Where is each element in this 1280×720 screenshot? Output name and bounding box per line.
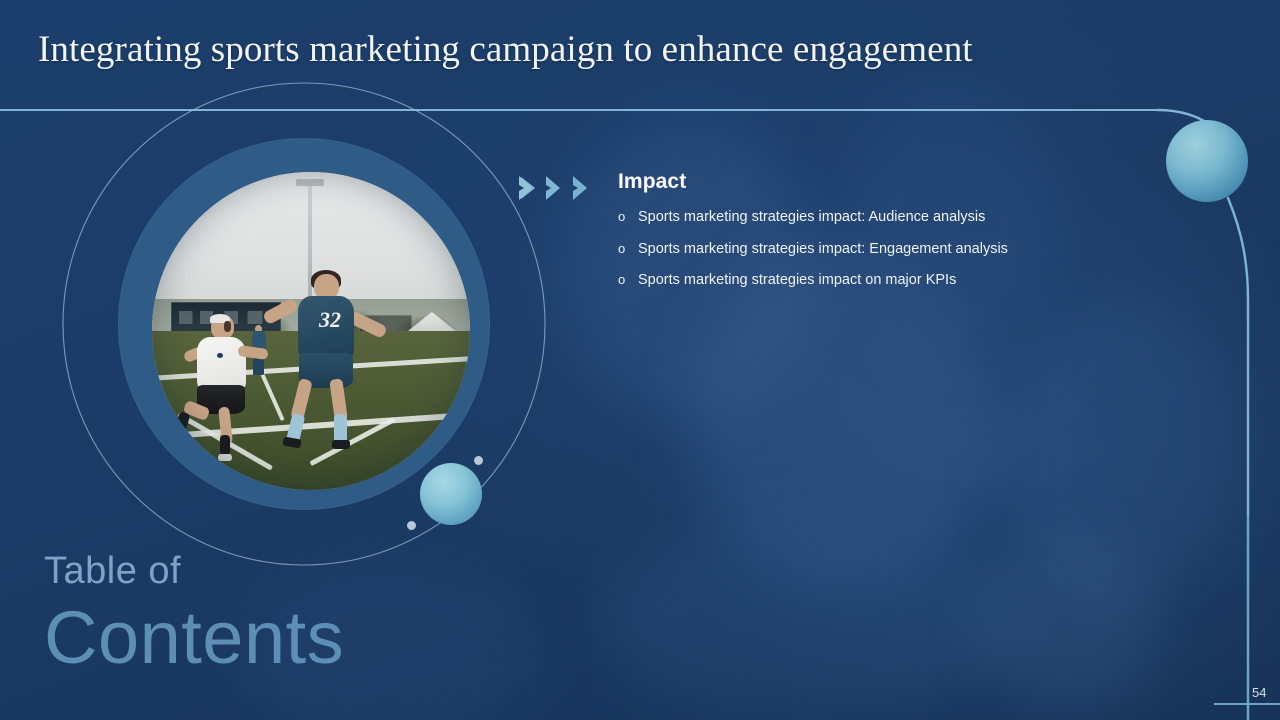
impact-heading: Impact (618, 170, 686, 194)
list-item-label: Sports marketing strategies impact: Enga… (638, 240, 1138, 260)
list-item-label: Sports marketing strategies impact: Audi… (638, 208, 1138, 228)
list-item-label: Sports marketing strategies impact on ma… (638, 271, 1138, 291)
list-item: o Sports marketing strategies impact: En… (618, 240, 1138, 260)
list-item: o Sports marketing strategies impact: Au… (618, 208, 1138, 228)
decorative-dot (407, 521, 416, 530)
decorative-sphere-small (420, 463, 482, 525)
page-number-horizontal-rule (1214, 703, 1280, 705)
bullet-marker-icon: o (618, 240, 638, 258)
header-divider-line (0, 109, 1157, 111)
decorative-dot (474, 456, 483, 465)
toc-label-line1: Table of (44, 550, 181, 593)
soccer-photo: 32 (152, 172, 470, 490)
decorative-sphere-large (1166, 120, 1248, 202)
toc-label-line2: Contents (44, 595, 344, 680)
page-number: 54 (1252, 685, 1266, 700)
slide-title: Integrating sports marketing campaign to… (38, 28, 1238, 72)
list-item: o Sports marketing strategies impact on … (618, 271, 1138, 291)
triple-chevron-right-icon (519, 175, 601, 201)
bullet-marker-icon: o (618, 271, 638, 289)
bullet-marker-icon: o (618, 208, 638, 226)
page-number-vertical-rule (1247, 516, 1249, 720)
impact-bullet-list: o Sports marketing strategies impact: Au… (618, 208, 1138, 303)
photo-vignette (152, 172, 470, 490)
slide-canvas: Integrating sports marketing campaign to… (0, 0, 1280, 720)
